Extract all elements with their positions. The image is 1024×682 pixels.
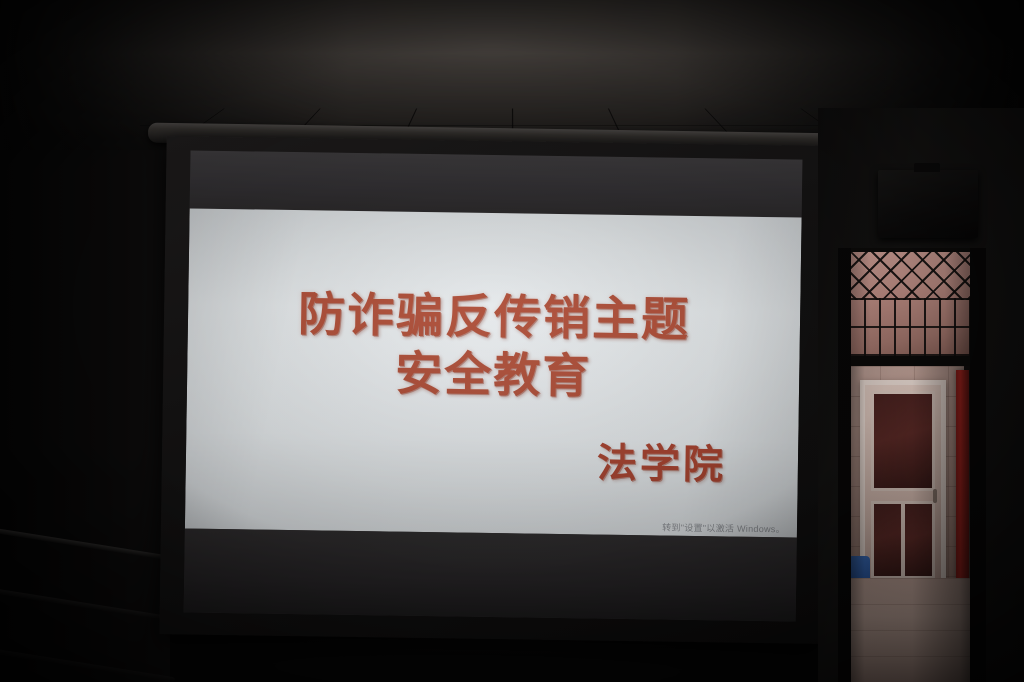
whiteboard-rail [0, 527, 175, 561]
slide-title: 防诈骗反传销主题 安全教育 [187, 284, 801, 410]
left-wall-with-whiteboard-rails [0, 150, 170, 682]
presentation-slide: 防诈骗反传销主题 安全教育 法学院 转到"设置"以激活 Windows。 [185, 208, 802, 537]
corridor-shadow [838, 366, 986, 682]
speaker-bracket-icon [914, 163, 940, 172]
transom-frame [838, 248, 986, 360]
letterbox-band-bottom [184, 528, 797, 621]
slide-subtitle: 法学院 [597, 431, 727, 491]
windows-activation-watermark: 转到"设置"以激活 Windows。 [662, 521, 785, 536]
classroom-scene: 防诈骗反传销主题 安全教育 法学院 转到"设置"以激活 Windows。 [0, 0, 1024, 682]
whiteboard-rail [0, 587, 175, 622]
doorway-opening[interactable] [838, 248, 986, 682]
wall-mounted-speaker [878, 170, 978, 238]
projection-screen-surface: 防诈骗反传销主题 安全教育 法学院 转到"设置"以激活 Windows。 [184, 150, 803, 621]
projection-screen-frame: 防诈骗反传销主题 安全教育 法学院 转到"设置"以激活 Windows。 [159, 136, 826, 644]
security-grille-transom [838, 248, 986, 360]
whiteboard-rail [0, 647, 175, 682]
right-wall-with-doorway [818, 108, 1024, 682]
lit-corridor [838, 366, 986, 682]
letterbox-band-top [190, 150, 803, 217]
